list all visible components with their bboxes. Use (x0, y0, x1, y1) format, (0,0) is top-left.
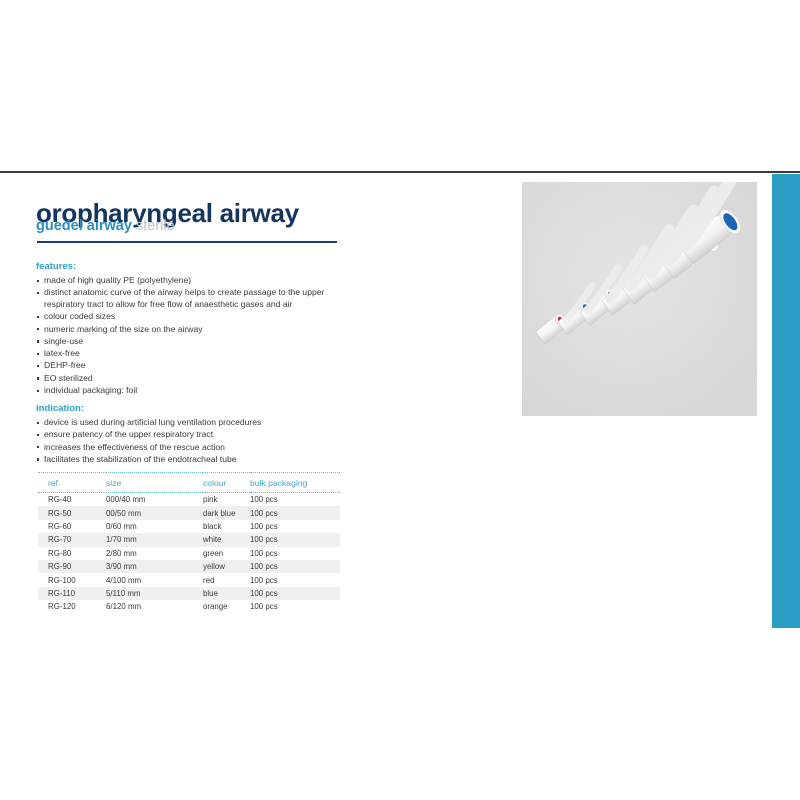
cell-bulk: 100 pcs (250, 493, 340, 507)
column-header-colour: colour (203, 473, 250, 493)
list-item: individual packaging: foil (36, 385, 366, 397)
cell-size: 5/110 mm (106, 587, 203, 600)
cell-bulk: 100 pcs (250, 547, 340, 560)
cell-ref: RG-100 (38, 573, 106, 586)
table-header-row: ref. size colour bulk packaging (38, 473, 340, 493)
column-header-bulk: bulk packaging (250, 473, 340, 493)
subtitle-sterile-label: sterile (136, 218, 175, 234)
list-item: numeric marking of the size on the airwa… (36, 324, 366, 336)
cell-bulk: 100 pcs (250, 600, 340, 613)
cell-bulk: 100 pcs (250, 533, 340, 546)
table-row: RG-120 6/120 mm orange 100 pcs (38, 600, 340, 613)
table-row: RG-40 000/40 mm pink 100 pcs (38, 493, 340, 507)
indication-section: indication: device is used during artifi… (36, 403, 366, 466)
table-row: RG-60 0/60 mm black 100 pcs (38, 520, 340, 533)
column-header-size: size (106, 473, 203, 493)
features-list: made of high quality PE (polyethylene) d… (36, 275, 366, 397)
list-item: made of high quality PE (polyethylene) (36, 275, 366, 287)
cell-bulk: 100 pcs (250, 573, 340, 586)
list-item: single-use (36, 336, 366, 348)
cell-size: 1/70 mm (106, 533, 203, 546)
subtitle-product-name: guedel airway (36, 218, 132, 234)
table-row: RG-100 4/100 mm red 100 pcs (38, 573, 340, 586)
indication-heading: indication: (36, 403, 366, 414)
cell-bulk: 100 pcs (250, 560, 340, 573)
table-body: RG-40 000/40 mm pink 100 pcs RG-50 00/50… (38, 493, 340, 614)
cell-colour: white (203, 533, 250, 546)
cell-colour: orange (203, 600, 250, 613)
cell-size: 000/40 mm (106, 493, 203, 507)
table-row: RG-70 1/70 mm white 100 pcs (38, 533, 340, 546)
cell-size: 3/90 mm (106, 560, 203, 573)
product-photo-illustration (522, 182, 757, 416)
cell-size: 4/100 mm (106, 573, 203, 586)
list-item: device is used during artificial lung ve… (36, 417, 366, 429)
cell-colour: black (203, 520, 250, 533)
table-row: RG-90 3/90 mm yellow 100 pcs (38, 560, 340, 573)
cell-ref: RG-70 (38, 533, 106, 546)
features-section: features: made of high quality PE (polye… (36, 261, 366, 397)
cell-colour: red (203, 573, 250, 586)
specification-table-wrap: ref. size colour bulk packaging RG-40 00… (38, 472, 330, 614)
table-row: RG-80 2/80 mm green 100 pcs (38, 547, 340, 560)
cell-colour: dark blue (203, 506, 250, 519)
list-item: DEHP-free (36, 360, 366, 372)
product-photo (522, 182, 757, 416)
cell-ref: RG-90 (38, 560, 106, 573)
list-item: distinct anatomic curve of the airway he… (36, 287, 366, 310)
list-item: EO sterilized (36, 373, 366, 385)
cell-ref: RG-50 (38, 506, 106, 519)
table-row: RG-110 5/110 mm blue 100 pcs (38, 587, 340, 600)
cell-ref: RG-80 (38, 547, 106, 560)
cell-ref: RG-110 (38, 587, 106, 600)
list-item: colour coded sizes (36, 311, 366, 323)
table-row: RG-50 00/50 mm dark blue 100 pcs (38, 506, 340, 519)
features-heading: features: (36, 261, 366, 272)
list-item: latex-free (36, 348, 366, 360)
specification-table: ref. size colour bulk packaging RG-40 00… (38, 472, 340, 614)
cell-ref: RG-120 (38, 600, 106, 613)
title-underline (37, 241, 337, 243)
cell-bulk: 100 pcs (250, 506, 340, 519)
cell-size: 6/120 mm (106, 600, 203, 613)
table-header: ref. size colour bulk packaging (38, 473, 340, 493)
cell-ref: RG-40 (38, 493, 106, 507)
list-item: facilitates the stabilization of the end… (36, 454, 366, 466)
list-item: ensure patency of the upper respiratory … (36, 429, 366, 441)
cell-size: 00/50 mm (106, 506, 203, 519)
header-divider (0, 171, 800, 173)
cell-bulk: 100 pcs (250, 587, 340, 600)
indication-list: device is used during artificial lung ve… (36, 417, 366, 466)
cell-colour: yellow (203, 560, 250, 573)
cell-ref: RG-60 (38, 520, 106, 533)
cell-size: 2/80 mm (106, 547, 203, 560)
accent-sidebar (772, 174, 800, 628)
cell-size: 0/60 mm (106, 520, 203, 533)
cell-colour: pink (203, 493, 250, 507)
column-header-ref: ref. (38, 473, 106, 493)
cell-colour: blue (203, 587, 250, 600)
cell-bulk: 100 pcs (250, 520, 340, 533)
page-subtitle: guedel airway sterile (36, 218, 175, 234)
list-item: increases the effectiveness of the rescu… (36, 442, 366, 454)
cell-colour: green (203, 547, 250, 560)
